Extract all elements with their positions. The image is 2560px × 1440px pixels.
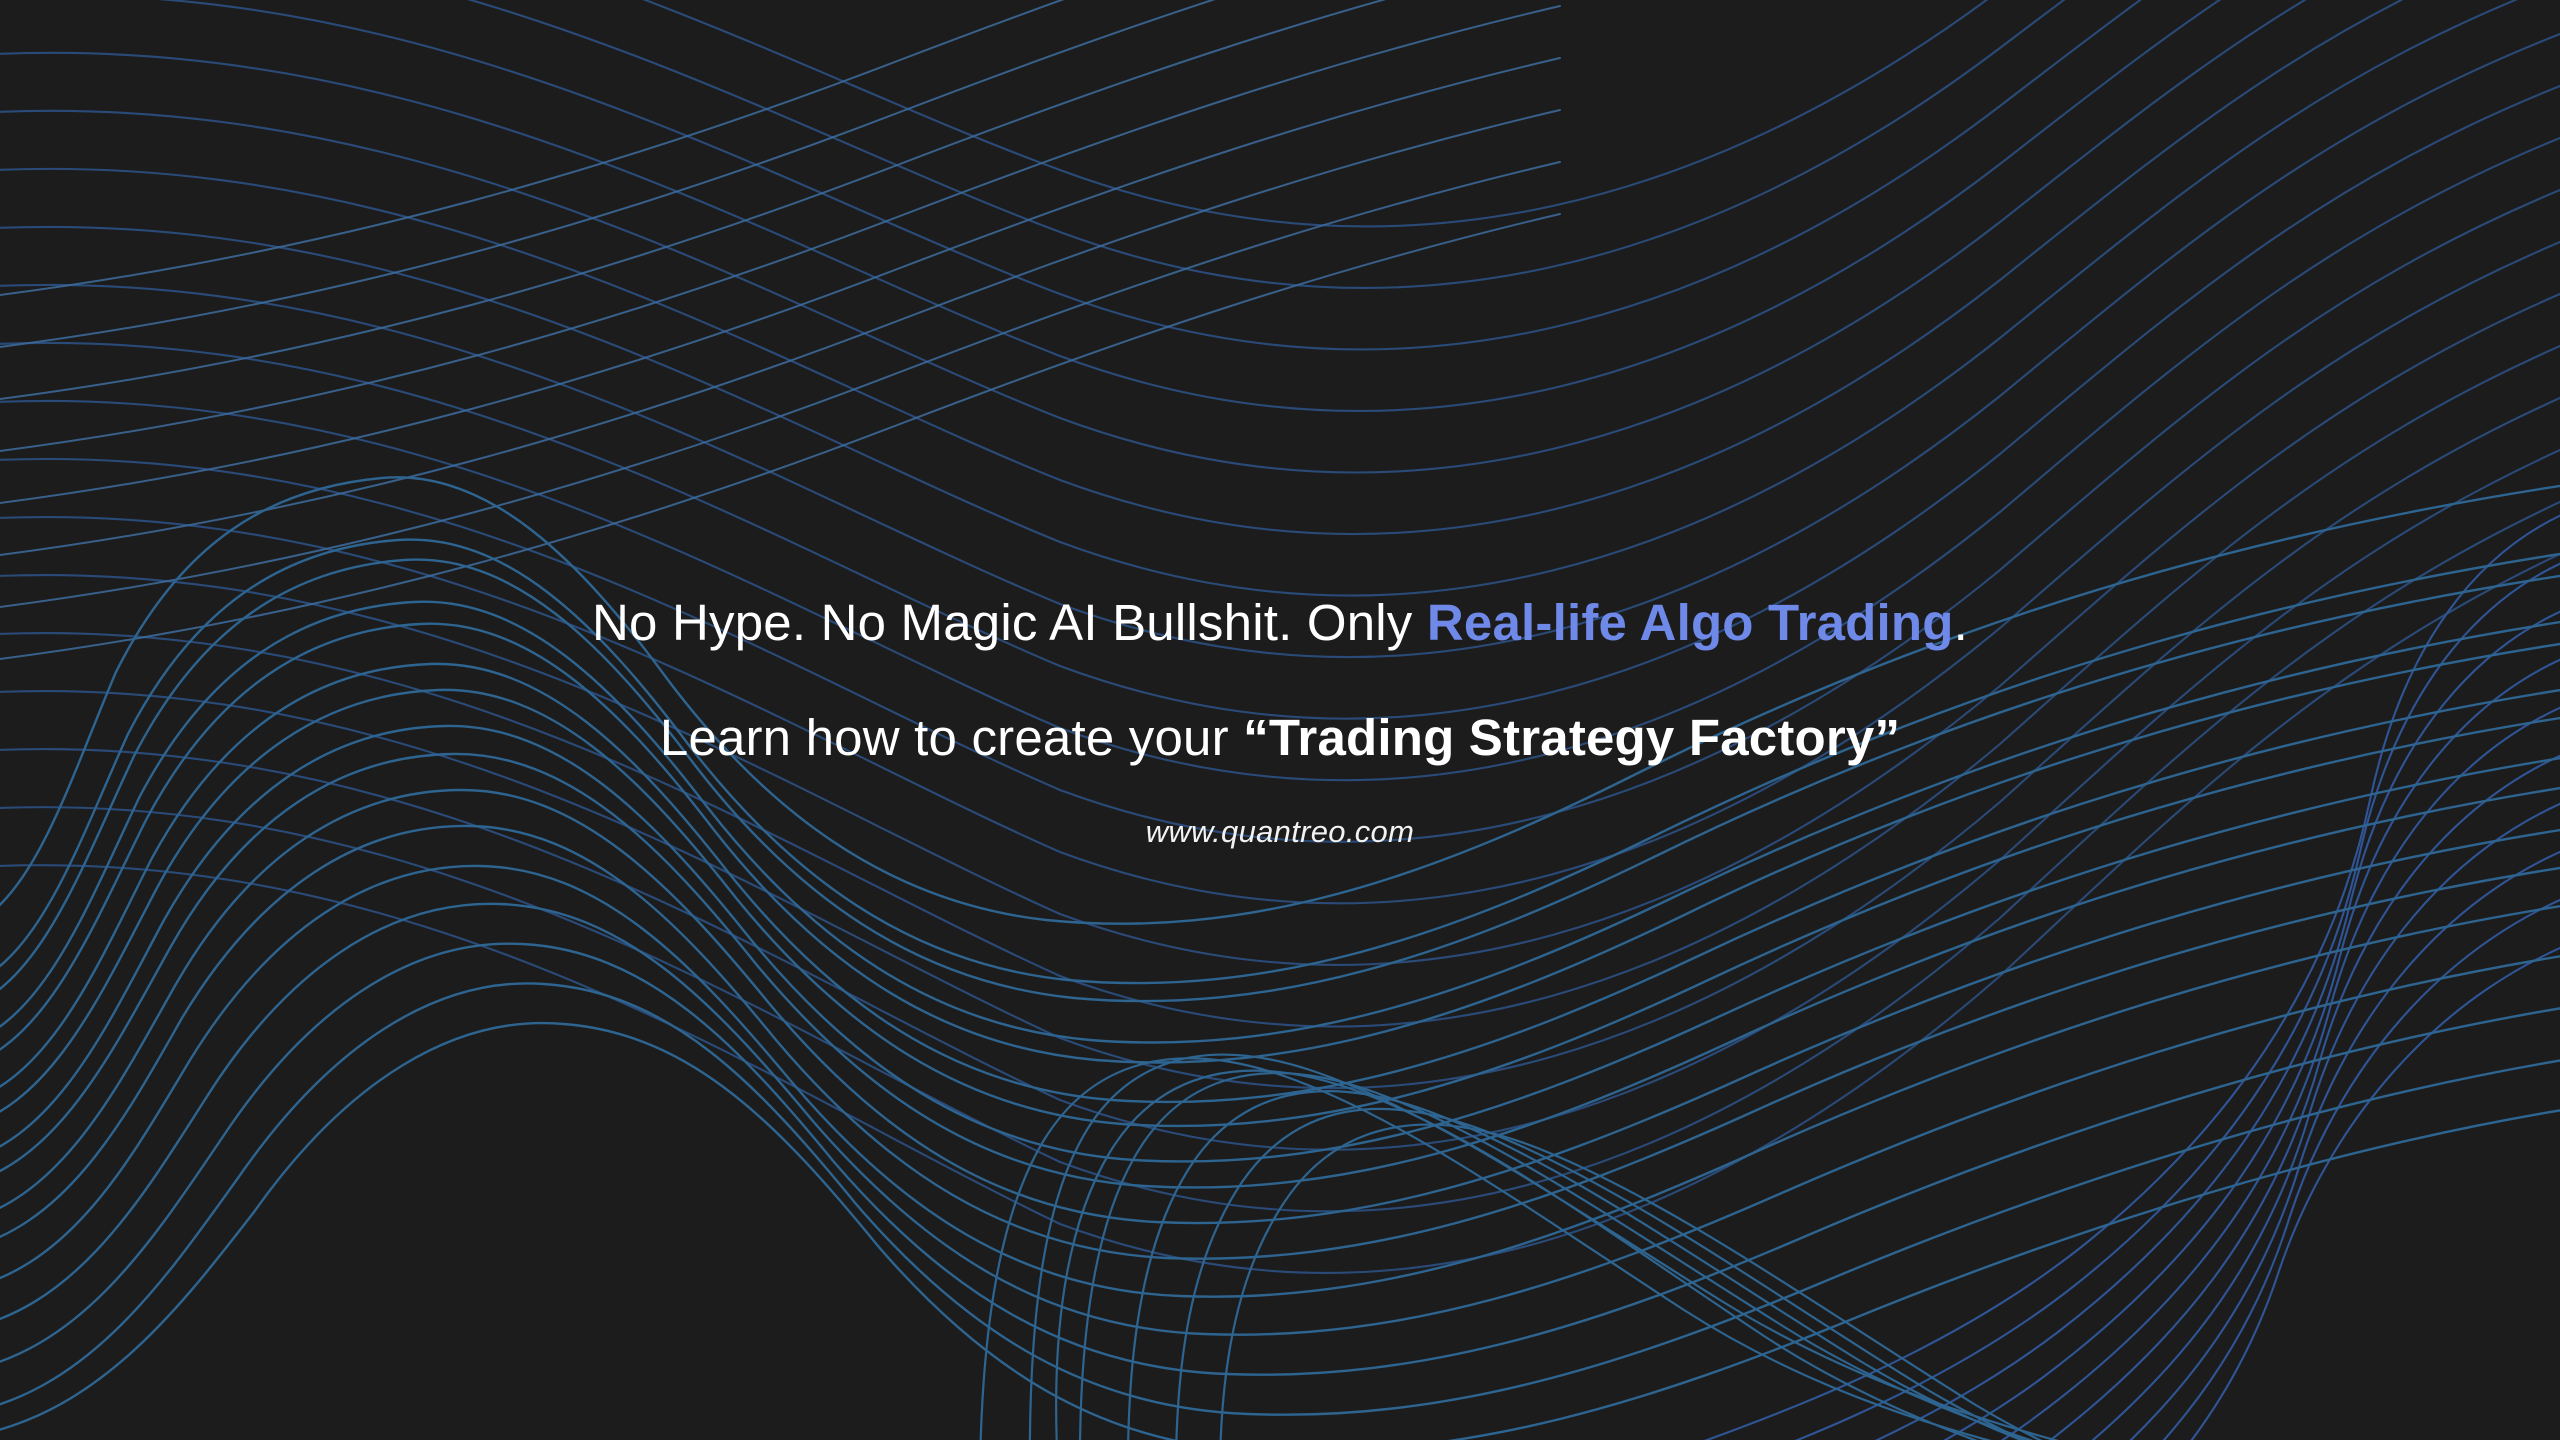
- website-url[interactable]: www.quantreo.com: [1146, 814, 1414, 850]
- headline-line-one-suffix: .: [1954, 594, 1968, 651]
- headline-line-one-prefix: No Hype. No Magic AI Bullshit. Only: [592, 594, 1427, 651]
- headline-line-two: Learn how to create your “Trading Strate…: [660, 705, 1900, 770]
- headline-accent-phrase: Real-life Algo Trading: [1427, 594, 1954, 651]
- headline-line-two-prefix: Learn how to create your: [660, 709, 1243, 766]
- slide-canvas: No Hype. No Magic AI Bullshit. Only Real…: [0, 0, 2560, 1440]
- headline-quoted-phrase: “Trading Strategy Factory”: [1243, 709, 1900, 766]
- headline-line-one: No Hype. No Magic AI Bullshit. Only Real…: [592, 590, 1968, 655]
- slide-content: No Hype. No Magic AI Bullshit. Only Real…: [0, 0, 2560, 1440]
